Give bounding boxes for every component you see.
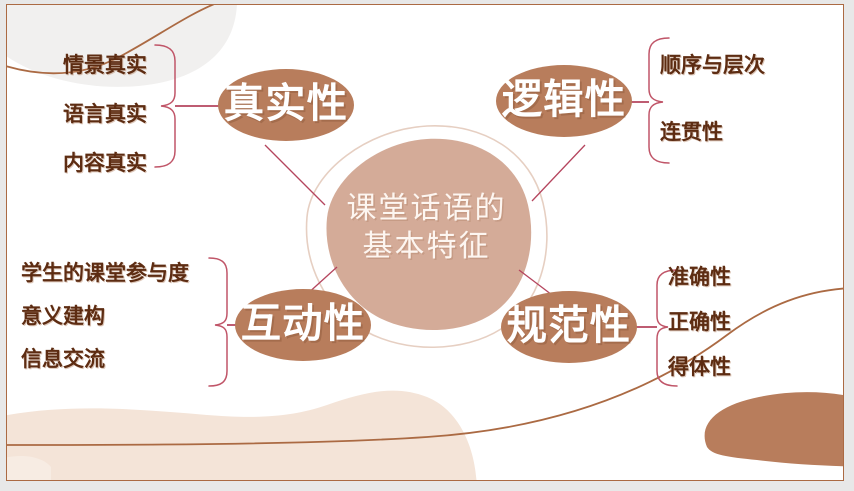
leaf-item-norm-2[interactable]: 正确性 [668,312,731,333]
branch-node-logic-label: 逻辑性 [502,81,626,121]
leaf-item-logic-2[interactable]: 连贯性 [660,122,723,143]
leaf-group-norm: 准确性 正确性 得体性 [668,267,731,378]
leaf-group-interaction: 学生的课堂参与度 意义建构 信息交流 [21,263,189,370]
leaf-item-norm-3[interactable]: 得体性 [668,357,731,378]
branch-node-logic[interactable]: 逻辑性 [496,65,632,137]
leaf-item-logic-1[interactable]: 顺序与层次 [660,55,765,76]
connector-center-to-logic [532,145,585,201]
center-node-label-line1: 课堂话语的 [347,192,507,225]
leaf-item-interaction-3[interactable]: 信息交流 [21,349,105,370]
leaf-item-truth-2[interactable]: 语言真实 [63,104,147,125]
branch-node-norm[interactable]: 规范性 [501,291,637,363]
branch-node-interaction[interactable]: 互动性 [235,289,371,361]
connector-center-to-truth [265,145,325,205]
leaf-group-logic: 顺序与层次 连贯性 [660,55,765,143]
bracket-interaction [209,258,227,386]
branch-node-interaction-label: 互动性 [241,305,365,345]
slide-canvas: 课堂话语的 基本特征 真实性 逻辑性 互动性 规范性 情景真实 语言真实 内容真… [0,0,854,491]
center-node-label: 课堂话语的 基本特征 [347,190,507,265]
branch-node-truth[interactable]: 真实性 [218,69,354,141]
center-node-label-line2: 基本特征 [363,230,491,263]
slide-page: 课堂话语的 基本特征 真实性 逻辑性 互动性 规范性 情景真实 语言真实 内容真… [6,4,844,481]
center-node[interactable]: 课堂话语的 基本特征 [319,135,534,320]
leaf-item-interaction-1[interactable]: 学生的课堂参与度 [21,263,189,284]
branch-node-truth-label: 真实性 [224,85,348,125]
bracket-truth [155,45,175,167]
leaf-item-norm-1[interactable]: 准确性 [668,267,731,288]
branch-node-norm-label: 规范性 [507,307,631,347]
leaf-group-truth: 情景真实 语言真实 内容真实 [63,55,147,174]
leaf-item-truth-3[interactable]: 内容真实 [63,153,147,174]
leaf-item-truth-1[interactable]: 情景真实 [63,55,147,76]
leaf-item-interaction-2[interactable]: 意义建构 [21,306,105,327]
